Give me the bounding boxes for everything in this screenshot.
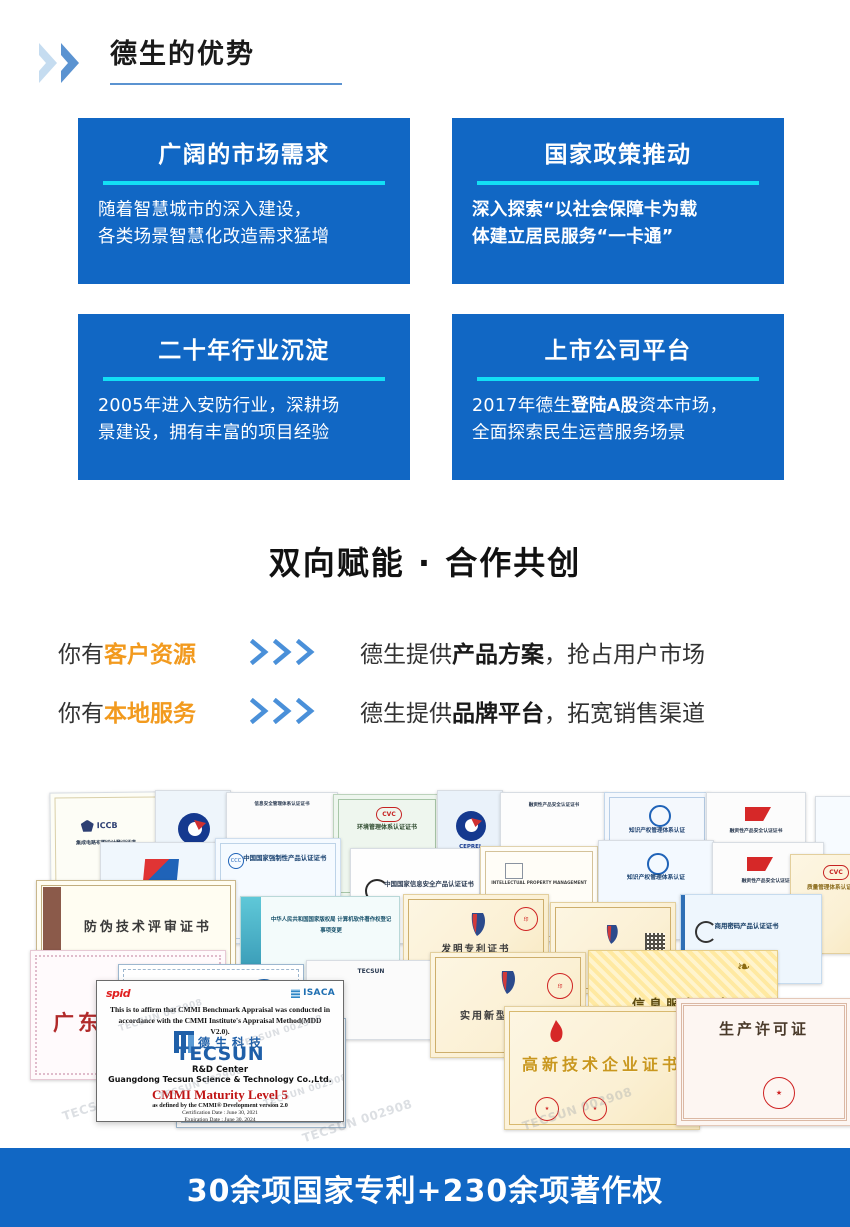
certificate-title: 商用密码产品认证证书 <box>715 923 816 930</box>
certificate-lines <box>509 819 598 849</box>
synergy-left-prefix: 你有 <box>58 701 104 727</box>
isaca-mark-icon <box>291 989 300 998</box>
red-seal-icon: ★ <box>763 1077 795 1109</box>
synergy-section-title: 双向赋能 · 合作共创 <box>0 538 850 584</box>
card-title: 二十年行业沉淀 <box>78 336 410 366</box>
certificate-title: 融资性产品安全认证证书 <box>713 829 799 835</box>
certificate-tile: 高新技术企业证书 ★ ★ <box>504 1006 700 1130</box>
certificate-lines <box>715 941 810 947</box>
certificate-title: TECSUN <box>315 969 428 976</box>
card-title: 国家政策推动 <box>452 140 784 170</box>
banner-text: 30余项国家专利+230余项著作权 <box>187 1166 664 1210</box>
certificate-title: 环境管理体系认证证书 <box>340 825 433 832</box>
synergy-right-suffix: ，拓宽销售渠道 <box>544 701 705 727</box>
card-body-line2: 体建立居民服务“一卡通” <box>472 227 674 247</box>
certificate-lines <box>691 1051 837 1074</box>
card-body: 2017年德生登陆A股资本市场， 全面探索民生运营服务场景 <box>472 393 764 447</box>
cmmi-company: Guangdong Tecsun Science & Technology Co… <box>97 1075 343 1084</box>
certificate-badge: ICCB <box>97 821 118 830</box>
card-divider <box>103 377 385 381</box>
synergy-right-emphasis: 品牌平台 <box>452 701 544 727</box>
synergy-left-text: 你有客户资源 <box>0 635 250 669</box>
synergy-right-emphasis: 产品方案 <box>452 642 544 668</box>
cmmi-certification-date: Certification Date : June 30, 2021 <box>182 1110 258 1116</box>
patent-emblem-icon <box>467 911 489 937</box>
advantage-card-national-policy: 国家政策推动 深入探索“以社会保障卡为载 体建立居民服务“一卡通” <box>452 118 784 284</box>
card-divider <box>103 181 385 185</box>
gold-emblem-icon <box>545 1019 567 1045</box>
certificate-title: 生产许可证 <box>687 1021 840 1038</box>
card-body-line1: 深入探索“以社会保障卡为载 <box>472 200 697 220</box>
synergy-row-local-service: 你有本地服务 德生提供品牌平台，拓宽销售渠道 <box>0 692 850 730</box>
certificate-title: 质量管理体系认证证书 <box>796 885 850 891</box>
synergy-left-highlight: 客户资源 <box>104 642 196 668</box>
page-title: 德生的优势 <box>110 34 255 76</box>
cvc-badge-icon: CVC <box>823 865 849 880</box>
red-seal-icon: ★ <box>583 1097 607 1121</box>
arrow-triple-right-icon <box>250 698 360 724</box>
synergy-left-text: 你有本地服务 <box>0 694 250 728</box>
cmmi-maturity-level: CMMI Maturity Level 5 <box>97 1087 343 1103</box>
arrow-triple-right-icon <box>250 639 360 665</box>
isaca-logo: ISACA <box>291 988 335 998</box>
card-body-line2: 景建设，拥有丰富的项目经验 <box>98 423 329 443</box>
card-divider <box>477 377 759 381</box>
certificate-cmmi-level5: spid ISACA This is to affirm that CMMI B… <box>96 980 344 1122</box>
spid-logo: spid <box>106 987 130 1000</box>
card-body-line1-pre: 2017年德生 <box>472 396 571 416</box>
synergy-right-text: 德生提供产品方案，抢占用户市场 <box>360 635 850 669</box>
card-body: 2005年进入安防行业，深耕场 景建设，拥有丰富的项目经验 <box>98 393 390 447</box>
card-body-line1: 随着智慧城市的深入建设， <box>98 200 312 220</box>
certificate-tile: 生产许可证 ★ <box>676 998 850 1126</box>
synergy-right-prefix: 德生提供 <box>360 701 452 727</box>
tecsun-brand: TECSUN <box>97 1043 343 1065</box>
cmmi-dates: Certification Date : June 30, 2021 Expir… <box>97 1110 343 1122</box>
card-body: 随着智慧城市的深入建设， 各类场景智慧化改造需求猛增 <box>98 197 390 251</box>
card-title: 广阔的市场需求 <box>78 140 410 170</box>
bottom-banner: 30余项国家专利+230余项著作权 <box>0 1148 850 1227</box>
synergy-right-prefix: 德生提供 <box>360 642 452 668</box>
certificate-collage: 集成电路布图设计登记证书 ICCB CEPREI 信息安全管理体系认证证书 <box>0 762 850 1148</box>
synergy-row-customer-resources: 你有客户资源 德生提供产品方案，抢占用户市场 <box>0 633 850 671</box>
patent-emblem-icon <box>497 969 519 995</box>
certificate-title: 高新技术企业证书 <box>513 1051 692 1075</box>
cmmi-rd-center: R&D Center <box>97 1065 343 1075</box>
cmmi-as-defined: as defined by the CMMI® Development vers… <box>97 1102 343 1109</box>
advantage-card-market-demand: 广阔的市场需求 随着智慧城市的深入建设， 各类场景智慧化改造需求猛增 <box>78 118 410 284</box>
cvc-badge-icon: CVC <box>376 807 402 822</box>
red-seal-icon: 印 <box>514 907 538 931</box>
card-body-line1-emphasis: 登陆A股 <box>571 396 638 416</box>
card-divider <box>477 181 759 185</box>
advantage-card-listed-company: 上市公司平台 2017年德生登陆A股资本市场， 全面探索民生运营服务场景 <box>452 314 784 480</box>
synergy-right-text: 德生提供品牌平台，拓宽销售渠道 <box>360 694 850 728</box>
card-body: 深入探索“以社会保障卡为载 体建立居民服务“一卡通” <box>472 197 764 251</box>
certificate-title: 融资性产品安全认证证书 <box>507 803 600 808</box>
card-body-line1: 2005年进入安防行业，深耕场 <box>98 396 340 416</box>
certificate-title: 中国国家强制性产品认证证书 <box>243 855 337 862</box>
card-body-line1-post: 资本市场， <box>638 396 727 416</box>
isaca-label: ISACA <box>303 988 335 998</box>
certificate-title: INTELLECTUAL PROPERTY MANAGEMENT <box>488 881 590 886</box>
red-seal-icon: ★ <box>535 1097 559 1121</box>
synergy-right-suffix: ，抢占用户市场 <box>544 642 705 668</box>
cmmi-affirm-line1: This is to affirm that CMMI Benchmark Ap… <box>110 1005 330 1014</box>
certificate-title: 中国国家信息安全产品认证证书 <box>384 881 476 888</box>
synergy-left-highlight: 本地服务 <box>104 701 196 727</box>
header-underline <box>110 83 342 85</box>
synergy-left-prefix: 你有 <box>58 642 104 668</box>
chevron-right-icon-dark <box>59 42 89 84</box>
card-body-line2: 各类场景智慧化改造需求猛增 <box>98 227 329 247</box>
card-body-line2: 全面探索民生运营服务场景 <box>472 423 686 443</box>
certificate-title: 防伪技术评审证书 <box>73 921 224 936</box>
advantage-card-twenty-years: 二十年行业沉淀 2005年进入安防行业，深耕场 景建设，拥有丰富的项目经验 <box>78 314 410 480</box>
certificate-title: 知识产权管理体系认证 <box>611 828 703 834</box>
patent-emblem-icon <box>603 923 621 945</box>
section-header: 德生的优势 <box>0 34 850 96</box>
card-title: 上市公司平台 <box>452 336 784 366</box>
red-seal-icon: 印 <box>547 973 573 999</box>
certificate-title: 信息安全管理体系认证证书 <box>234 802 331 807</box>
certificate-title: 中华人民共和国国家版权局 计算机软件著作权登记事项变更 <box>269 915 392 937</box>
cmmi-expiration-date: Expiration Date : June 30, 2024 <box>184 1117 255 1122</box>
advantage-card-grid: 广阔的市场需求 随着智慧城市的深入建设， 各类场景智慧化改造需求猛增 国家政策推… <box>0 118 850 480</box>
certificate-title: 知识产权管理体系认证 <box>606 875 706 882</box>
chevron-group <box>37 42 99 84</box>
